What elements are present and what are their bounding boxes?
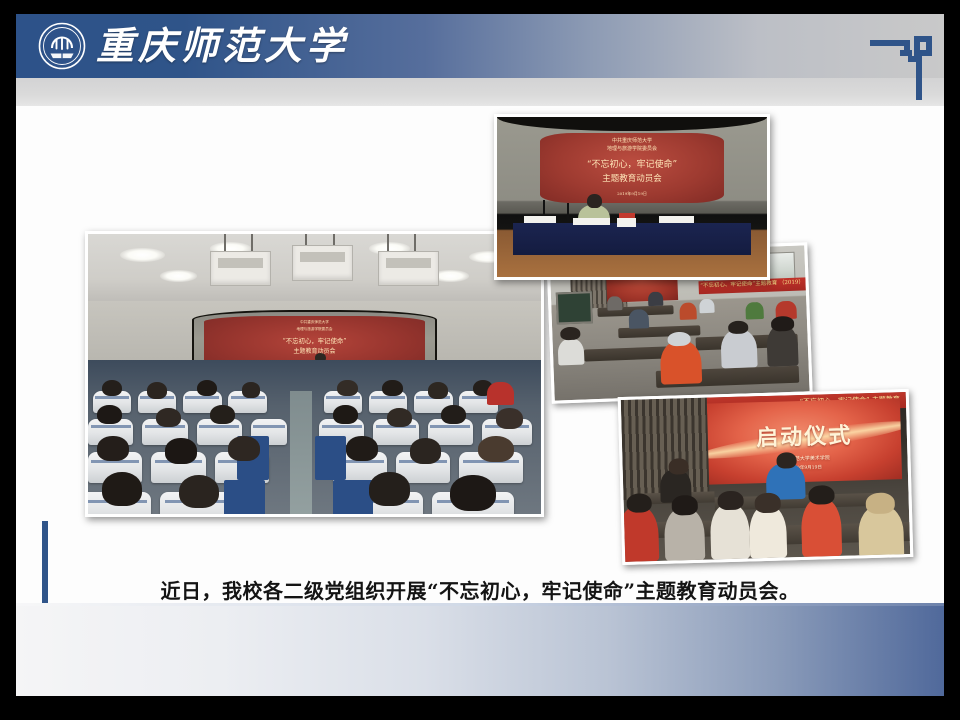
classroom-attendee: [628, 310, 649, 330]
attendee-head: [210, 405, 235, 425]
podium-projection-screen: 中共重庆师范大学 地理与旅游学院委员会 “不忘初心，牢记使命” 主题教育动员会 …: [540, 133, 724, 203]
attendee-head: [228, 436, 260, 461]
ceremony-attendee-head: [717, 491, 743, 511]
attendee-head: [387, 408, 412, 428]
slide-line-event: 主题教育动员会: [204, 346, 425, 355]
classroom-attendee-head: [771, 316, 794, 331]
podium-name-card: [617, 218, 636, 228]
university-name-wordmark: 重庆师范大学: [96, 18, 348, 74]
lecture-hall-scene: 中共重庆师范大学 地理与旅游学院委员会 “不忘初心，牢记使命” 主题教育动员会 …: [88, 234, 541, 514]
attendee-head: [346, 436, 378, 461]
ceiling-projector: [378, 251, 439, 287]
ceremony-attendee-head: [866, 493, 895, 515]
ceiling-light: [160, 270, 196, 281]
attendee-head: [197, 380, 217, 397]
podium-scene: 中共重庆师范大学 地理与旅游学院委员会 “不忘初心，牢记使命” 主题教育动员会 …: [497, 117, 767, 277]
attendee-head: [410, 438, 442, 463]
ceremony-attendee: [664, 508, 705, 561]
classroom-attendee: [607, 296, 623, 311]
ceremony-attendee: [709, 503, 750, 559]
podium-slide-theme: “不忘初心，牢记使命”: [540, 157, 724, 170]
attendee-head: [102, 380, 122, 397]
ceremony-attendee-red: [800, 498, 842, 557]
ceiling-projector: [292, 245, 353, 281]
slide-canvas: 重庆师范大学: [16, 14, 944, 696]
attendee-head: [441, 405, 466, 425]
podium-papers: [524, 216, 556, 222]
attendee-head: [156, 408, 181, 428]
attendee-head: [450, 475, 495, 511]
attendee-head: [496, 408, 523, 429]
ceremony-speaker-head: [776, 452, 796, 469]
slide-line-org-1: 中共重庆师范大学: [204, 320, 425, 325]
classroom-attendee-orange: [660, 340, 702, 385]
attendee-head: [369, 472, 410, 506]
photo-launch-ceremony[interactable]: “不忘初心、牢记使命” 主题教育 启动仪式 重庆师范大学美术学院 2019年9月…: [618, 389, 914, 565]
photo-lecture-hall[interactable]: 中共重庆师范大学 地理与旅游学院委员会 “不忘初心，牢记使命” 主题教育动员会 …: [85, 231, 544, 517]
corner-ornament-top-right-icon: [870, 36, 934, 105]
ceiling-projector: [210, 251, 271, 287]
podium-papers: [573, 218, 611, 225]
attendee-head: [333, 405, 358, 425]
attendee-head: [102, 472, 143, 506]
seat-base: [333, 480, 374, 514]
attendee-head: [147, 382, 167, 399]
classroom-attendee: [721, 329, 758, 368]
ceremony-attendee-head: [626, 493, 652, 513]
classroom-attendee: [745, 302, 763, 319]
ceremony-attendee-head: [668, 458, 688, 475]
ceremony-attendee: [749, 506, 787, 559]
classroom-attendee: [679, 302, 697, 320]
center-aisle: [290, 391, 313, 514]
slide-line-theme: “不忘初心，牢记使命”: [204, 336, 425, 345]
podium-slide-date: 2019年9月19日: [540, 191, 724, 197]
podium-slide-org-1: 中共重庆师范大学: [540, 137, 724, 144]
classroom-attendee: [558, 338, 584, 365]
slide-caption: 近日，我校各二级党组织开展“不忘初心，牢记使命”主题教育动员会。: [160, 575, 799, 604]
ceremony-screen-title: 启动仪式: [707, 416, 902, 453]
photo-podium-speaker[interactable]: 中共重庆师范大学 地理与旅游学院委员会 “不忘初心，牢记使命” 主题教育动员会 …: [494, 114, 770, 280]
launch-ceremony-scene: “不忘初心、牢记使命” 主题教育 启动仪式 重庆师范大学美术学院 2019年9月…: [621, 392, 910, 562]
slide-root: 重庆师范大学: [0, 0, 960, 720]
ceremony-projection-screen: 启动仪式 重庆师范大学美术学院 2019年9月19日: [706, 399, 902, 485]
university-emblem-icon: [38, 22, 86, 70]
ceremony-attendee-head: [809, 485, 835, 505]
classroom-attendee: [699, 298, 715, 313]
attendee-head: [478, 436, 514, 463]
seat-base: [224, 480, 265, 514]
podium-speaker-head: [587, 194, 602, 208]
podium-head-table: [513, 223, 751, 255]
header-gray-strip: [16, 78, 944, 106]
podium-papers: [659, 216, 694, 222]
attendee-head: [97, 405, 122, 425]
ceremony-attendee-head: [755, 493, 781, 513]
podium-slide-org-2: 地理与旅游学院委员会: [540, 145, 724, 152]
podium-slide-event: 主题教育动员会: [540, 172, 724, 184]
classroom-attendee-head: [560, 327, 581, 341]
attendee-red-shirt: [487, 382, 514, 404]
attendee-head: [337, 380, 357, 397]
slide-line-org-2: 地理与旅游学院委员会: [204, 327, 425, 332]
attendee-head: [97, 436, 129, 461]
seat-base: [315, 436, 347, 481]
attendee-head: [428, 382, 448, 399]
attendee-head: [165, 438, 197, 463]
ceremony-attendee-head: [672, 495, 698, 515]
ceiling-light: [120, 248, 165, 262]
classroom-cap: [667, 331, 690, 346]
attendee-head: [242, 382, 260, 397]
classroom-chalkboard: [556, 291, 593, 324]
attendee-head: [179, 475, 220, 509]
classroom-attendee-head: [728, 320, 749, 334]
footer-gradient-band: [16, 606, 944, 696]
photo-collage: 中共重庆师范大学 地理与旅游学院委员会 “不忘初心，牢记使命” 主题教育动员会 …: [16, 106, 944, 576]
attendee-head: [382, 380, 402, 397]
classroom-attendee: [648, 291, 664, 306]
